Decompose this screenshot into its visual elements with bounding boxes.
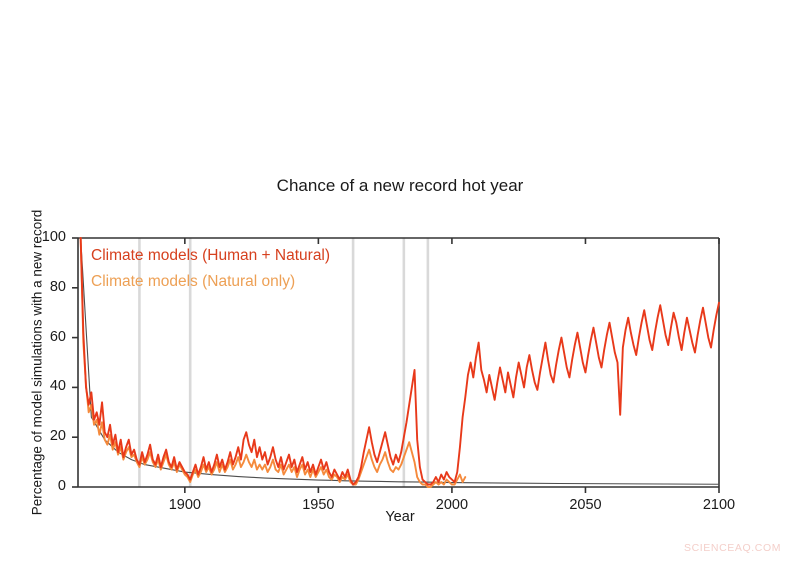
watermark-text: SCIENCEAQ.COM bbox=[684, 542, 781, 554]
chart-figure: Chance of a new record hot year 02040608… bbox=[0, 0, 800, 566]
x-axis-label: Year bbox=[0, 509, 800, 525]
legend-item-natural-only: Climate models (Natural only) bbox=[91, 273, 295, 291]
y-axis-label: Percentage of model simulations with a n… bbox=[30, 203, 45, 523]
legend-item-human-natural: Climate models (Human + Natural) bbox=[91, 247, 330, 265]
